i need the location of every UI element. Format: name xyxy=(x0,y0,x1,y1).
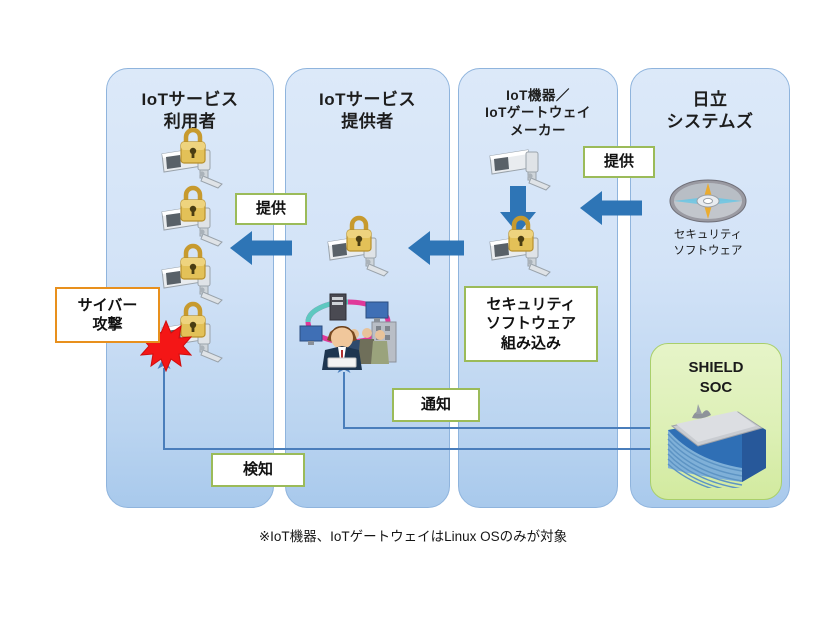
lane-title-consumer-line1: IoTサービス xyxy=(107,89,273,111)
padlock-icon xyxy=(176,126,210,166)
embed-label-line1: セキュリティ xyxy=(486,295,575,315)
shield-soc-title-line1: SHIELD xyxy=(651,358,781,378)
embed-label-line3: 組み込み xyxy=(501,334,561,354)
lane-title-maker-line3: メーカー xyxy=(459,122,617,139)
lane-title-hitachi-line1: 日立 xyxy=(631,89,789,111)
lane-title-provider: IoTサービス 提供者 xyxy=(286,89,449,133)
arrow-left-icon xyxy=(408,228,464,268)
detect-line-horizontal xyxy=(163,448,665,450)
padlock-icon xyxy=(176,184,210,224)
provide-label-maker: 提供 xyxy=(583,146,655,178)
service-provider-illustration xyxy=(292,288,404,370)
security-software-caption-line2: ソフトウェア xyxy=(648,244,768,260)
provide-label-consumer: 提供 xyxy=(235,193,307,225)
cyber-attack-label-line2: 攻撃 xyxy=(92,315,122,335)
padlock-icon xyxy=(342,214,376,254)
cyber-attack-label: サイバー 攻撃 xyxy=(55,287,160,343)
padlock-icon xyxy=(176,242,210,282)
arrow-left-icon xyxy=(230,228,292,268)
notify-line-vertical xyxy=(343,372,345,429)
lane-title-provider-line1: IoTサービス xyxy=(286,89,449,111)
security-software-caption-line1: セキュリティ xyxy=(648,228,768,244)
notify-label: 通知 xyxy=(392,388,480,422)
shield-soc-title-line2: SOC xyxy=(651,378,781,398)
footnote-text: ※IoT機器、IoTゲートウェイはLinux OSのみが対象 xyxy=(0,525,826,545)
cd-disc-icon xyxy=(668,178,748,224)
shield-soc-title: SHIELD SOC xyxy=(651,358,781,397)
diagram-canvas: IoTサービス 利用者 IoTサービス 提供者 IoT機器／ IoTゲートウェイ… xyxy=(0,0,826,620)
notify-line-horizontal xyxy=(343,427,665,429)
security-software-caption: セキュリティ ソフトウェア xyxy=(648,228,768,259)
lane-title-maker: IoT機器／ IoTゲートウェイ メーカー xyxy=(459,87,617,139)
detect-label: 検知 xyxy=(211,453,305,487)
padlock-icon xyxy=(504,214,538,254)
detect-line-vertical xyxy=(163,368,165,450)
lane-title-provider-line2: 提供者 xyxy=(286,111,449,133)
arrow-left-icon xyxy=(580,188,642,228)
lane-title-hitachi: 日立 システムズ xyxy=(631,89,789,133)
lane-title-hitachi-line2: システムズ xyxy=(631,111,789,133)
soc-server-icon xyxy=(658,396,776,488)
lane-title-maker-line1: IoT機器／ xyxy=(459,87,617,104)
security-software-embed-label: セキュリティ ソフトウェア 組み込み xyxy=(464,286,598,362)
lane-title-maker-line2: IoTゲートウェイ xyxy=(459,104,617,121)
cyber-attack-label-line1: サイバー xyxy=(78,296,138,316)
embed-label-line2: ソフトウェア xyxy=(486,314,576,334)
